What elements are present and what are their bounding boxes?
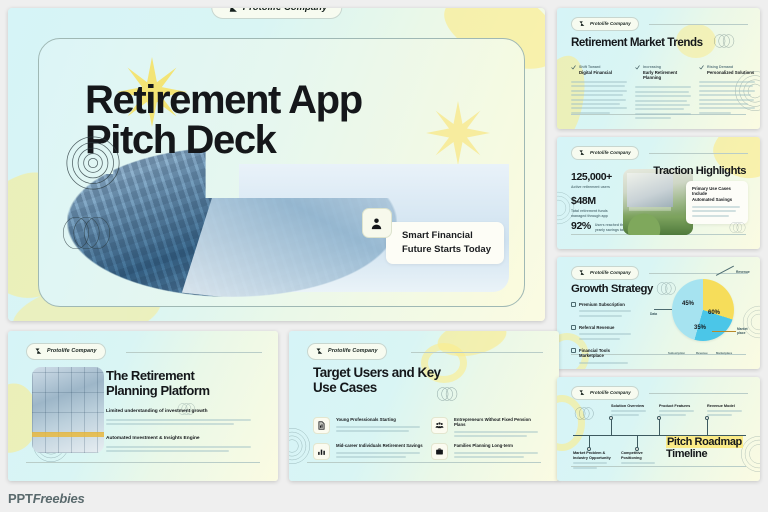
- checkbox-item-1[interactable]: Premium Subscription: [571, 302, 633, 319]
- pie-legend-marketplace: Marketplace: [716, 351, 732, 355]
- header-divider: [649, 24, 748, 25]
- stat-value: 92%: [571, 220, 591, 232]
- brand-pill[interactable]: Protolife Company: [571, 17, 639, 31]
- point-heading: Automated Investment & Insights Engine: [106, 436, 252, 441]
- platform-title-line2: Planning Platform: [106, 383, 210, 398]
- user-avatar-glyph: [369, 216, 384, 231]
- triangle-play-icon: [579, 21, 585, 27]
- hero-tag-card: Smart Financial Future Starts Today: [362, 208, 504, 264]
- watermark-italic: Freebies: [33, 491, 85, 506]
- footer-divider: [26, 462, 260, 463]
- checkbox-label: Financial Tools Marketplace: [579, 348, 633, 359]
- body-copy-placeholder: [336, 452, 423, 458]
- platform-point-2: Automated Investment & Insights Engine: [106, 436, 252, 455]
- pie-slice-label-subscription: 45%: [682, 301, 694, 307]
- timeline-label-below-2: Competitive Positioning: [621, 451, 659, 467]
- overlapping-ellipses-icon: [712, 34, 740, 48]
- body-copy-placeholder: [454, 431, 541, 437]
- brand-pill-label: Protolife Company: [590, 150, 631, 155]
- users-title-line2: Use Cases: [313, 380, 377, 395]
- stat-block-1: 125,000+ Active retirement users: [571, 171, 617, 190]
- triangle-play-icon: [579, 390, 585, 396]
- body-copy-placeholder: [635, 86, 691, 119]
- timeline-heading-l2: Positioning: [621, 456, 659, 461]
- platform-photo: [32, 367, 104, 453]
- bar-chart-glyph: [317, 447, 326, 456]
- hero-card: Retirement App Pitch Deck Smart Financia…: [38, 38, 525, 307]
- use-case-item-1: Young Professionals Starting: [313, 417, 423, 435]
- overlapping-ellipses-icon: [728, 222, 750, 233]
- slide-title: Target Users and Key Use Cases: [313, 365, 473, 395]
- checkbox-item-3[interactable]: Financial Tools Marketplace: [571, 348, 633, 366]
- timeline-label-above-1: Solution Overview: [611, 404, 649, 419]
- brand-pill-label: Protolife Company: [47, 348, 97, 354]
- use-case-heading: Mid-career Individuals Retirement Saving…: [336, 443, 423, 448]
- traction-building-photo: [623, 169, 693, 235]
- stat-label: Total retirement funds managed through a…: [571, 209, 617, 218]
- slide-title: Pitch Roadmap Timeline: [666, 436, 744, 462]
- timeline-label-above-2: Product Features: [659, 404, 697, 419]
- decor-ring: [557, 395, 585, 451]
- roadmap-title-line2: Timeline: [666, 448, 707, 460]
- header-divider: [649, 153, 748, 154]
- use-case-heading: Entrepreneurs Without Fixed Pension Plan…: [454, 417, 541, 427]
- triangle-play-icon: [35, 348, 42, 355]
- hero-title-line1: Retirement App: [85, 78, 362, 122]
- bar-chart-icon: [313, 443, 330, 460]
- body-copy-placeholder: [579, 362, 633, 364]
- body-copy-placeholder: [579, 310, 633, 316]
- trend-heading: Digital Financial: [579, 70, 627, 75]
- body-copy-placeholder: [699, 81, 755, 114]
- group-people-glyph: [435, 421, 444, 430]
- traction-callout-card: Primary Use Cases Include Automated Savi…: [686, 181, 748, 224]
- decor-swoosh: [706, 137, 760, 186]
- pie-slice-label-revenue: 60%: [708, 310, 720, 316]
- point-heading: Limited understanding of investment grow…: [106, 409, 252, 414]
- header-divider: [126, 352, 262, 353]
- check-icon: [635, 65, 640, 70]
- card-heading-line2: Automated Savings: [692, 197, 742, 202]
- slide-title: Growth Strategy: [571, 283, 653, 295]
- checkbox-icon[interactable]: [571, 302, 576, 307]
- slide-title: The Retirement Planning Platform: [106, 369, 256, 398]
- brand-pill[interactable]: Protolife Company: [211, 8, 342, 19]
- trend-heading: Early Retirement Planning: [643, 70, 691, 81]
- checkbox-label: Referral Revenue: [579, 325, 633, 330]
- brand-pill-label: Protolife Company: [590, 390, 631, 395]
- footer-divider: [307, 462, 541, 463]
- slide-retirement-planning-platform[interactable]: Protolife Company The Retirement Plannin…: [8, 331, 278, 481]
- triangle-play-icon: [316, 348, 323, 355]
- user-avatar-icon: [362, 208, 392, 238]
- concentric-rings-icon: [65, 135, 121, 191]
- use-case-item-3: Mid-career Individuals Retirement Saving…: [313, 443, 423, 461]
- brand-pill[interactable]: Protolife Company: [571, 386, 639, 400]
- screenshot-page: Retirement App Pitch Deck Smart Financia…: [0, 0, 768, 512]
- hero-tag-line2: Future Starts Today: [402, 243, 491, 257]
- body-copy-placeholder: [106, 446, 252, 452]
- header-divider: [649, 393, 748, 394]
- slide-title: Traction Highlights: [653, 165, 746, 177]
- pie-leader-line-data: [654, 309, 672, 310]
- body-copy-placeholder: [336, 426, 423, 432]
- timeline-label-below-1: Market Problem & Industry Opportunity: [573, 451, 611, 471]
- body-copy-placeholder: [106, 419, 252, 425]
- triangle-play-icon: [226, 8, 238, 13]
- use-case-item-4: Families Planning Long-term: [431, 443, 541, 461]
- briefcase-icon: [431, 443, 448, 460]
- pie-annotation-revenue: Revenue: [736, 270, 750, 274]
- header-divider: [649, 273, 748, 274]
- header-divider: [411, 352, 543, 353]
- checkbox-icon[interactable]: [571, 348, 576, 353]
- triangle-play-icon: [579, 270, 585, 276]
- hero-tag-text: Smart Financial Future Starts Today: [386, 222, 504, 264]
- check-icon: [571, 65, 576, 70]
- pie-chart: 45% 60% 35% Data Revenue Market place Su…: [672, 279, 734, 341]
- users-title-line1: Target Users and Key: [313, 365, 441, 380]
- pie-leader-line-market: [712, 331, 736, 332]
- group-people-icon: [431, 417, 448, 434]
- timeline-heading-l2: Industry Opportunity: [573, 456, 611, 461]
- document-chart-icon: [313, 417, 330, 434]
- body-copy-placeholder: [571, 81, 627, 114]
- checkbox-icon[interactable]: [571, 325, 576, 330]
- slide-growth-strategy[interactable]: Protolife Company Growth Strategy Premiu…: [557, 257, 760, 369]
- timeline-stem: [611, 419, 612, 436]
- body-copy-placeholder: [692, 206, 742, 217]
- pie-annotation-data: Data: [650, 312, 657, 316]
- timeline-heading: Revenue Model: [707, 404, 745, 408]
- use-case-heading: Families Planning Long-term: [454, 443, 541, 448]
- card-heading-line1: Primary Use Cases Include: [692, 186, 742, 197]
- use-case-heading: Young Professionals Starting: [336, 417, 423, 422]
- pie-chart-disc: [672, 279, 734, 341]
- brand-pill-label: Protolife Company: [328, 348, 378, 354]
- stat-block-2: $48M Total retirement funds managed thro…: [571, 195, 617, 218]
- roadmap-title-line1: Pitch Roadmap: [666, 436, 743, 448]
- stat-value: 125,000+: [571, 171, 617, 183]
- brand-pill[interactable]: Protolife Company: [307, 343, 387, 360]
- triangle-play-icon: [579, 150, 585, 156]
- checkbox-item-2[interactable]: Referral Revenue: [571, 325, 633, 342]
- pie-legend-revenue: Revenue: [696, 351, 708, 355]
- trend-column-1: Shift Toward Digital Financial: [571, 65, 627, 116]
- hero-tag-line1: Smart Financial: [402, 229, 491, 243]
- brand-pill[interactable]: Protolife Company: [571, 266, 639, 280]
- brand-pill-label: Protolife Company: [590, 270, 631, 275]
- timeline-heading: Product Features: [659, 404, 697, 408]
- pie-legend-subscription: Subscription: [668, 351, 685, 355]
- timeline-heading: Solution Overview: [611, 404, 649, 408]
- slide-retirement-market-trends[interactable]: Protolife Company Retirement Market Tren…: [557, 8, 760, 129]
- checkbox-label: Premium Subscription: [579, 302, 633, 307]
- body-copy-placeholder: [579, 333, 633, 339]
- timeline-stem: [659, 419, 660, 436]
- slide-target-users[interactable]: Protolife Company Target Users and Key U…: [289, 331, 559, 481]
- pie-annotation-market: Market place: [737, 327, 755, 335]
- check-icon: [699, 65, 704, 70]
- brand-pill-label: Protolife Company: [590, 21, 631, 26]
- trend-heading: Personalized Solutions: [707, 70, 755, 75]
- overlapping-ellipses-icon: [573, 407, 599, 420]
- platform-title-line1: The Retirement: [106, 368, 194, 383]
- trend-column-3: Rising Demand Personalized Solutions: [699, 65, 755, 116]
- slide-pitch-roadmap-timeline[interactable]: Protolife Company Solution Overview Prod…: [557, 377, 760, 481]
- concentric-rings-icon: [289, 427, 311, 465]
- stat-label: Active retirement users: [571, 185, 617, 190]
- brand-pill[interactable]: Protolife Company: [26, 343, 106, 360]
- pie-slice-label-marketplace: 35%: [694, 325, 706, 331]
- brand-pill-label: Protolife Company: [243, 8, 327, 13]
- page-title: Retirement App Pitch Deck: [85, 81, 505, 160]
- watermark-bold: PPT: [8, 491, 33, 506]
- timeline-stem: [707, 419, 708, 436]
- pie-leader-line-revenue: [716, 266, 734, 276]
- overlapping-ellipses-icon: [61, 215, 121, 251]
- brand-pill[interactable]: Protolife Company: [571, 146, 639, 160]
- body-copy-placeholder: [454, 452, 541, 458]
- slide-title: Retirement Market Trends: [571, 36, 703, 49]
- stat-value: $48M: [571, 195, 617, 207]
- watermark: PPTFreebies: [8, 491, 85, 506]
- slide-traction-highlights[interactable]: Protolife Company Traction Highlights 12…: [557, 137, 760, 249]
- document-chart-glyph: [317, 421, 326, 430]
- slide-hero[interactable]: Retirement App Pitch Deck Smart Financia…: [8, 8, 545, 321]
- trend-column-2: Increasing Early Retirement Planning: [635, 65, 691, 122]
- use-case-item-2: Entrepreneurs Without Fixed Pension Plan…: [431, 417, 541, 440]
- timeline-label-above-3: Revenue Model: [707, 404, 745, 419]
- platform-point-1: Limited understanding of investment grow…: [106, 409, 252, 428]
- briefcase-glyph: [435, 447, 444, 456]
